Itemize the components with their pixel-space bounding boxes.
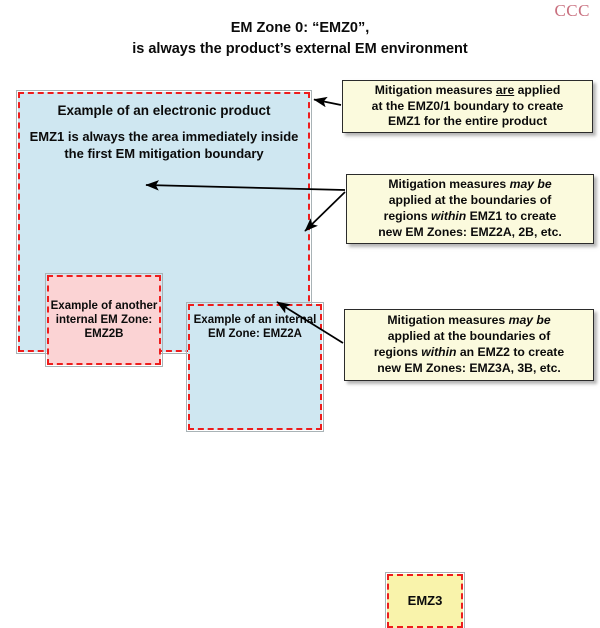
page-title: EM Zone 0: “EMZ0”, is always the product… [0, 18, 600, 60]
page-title-line-2: is always the product’s external EM envi… [0, 39, 600, 60]
callout-2-emphasis-within: within [431, 209, 466, 223]
arrow-to-emz2a-zone [305, 192, 345, 231]
zone-product-description: EMZ1 is always the area immediately insi… [22, 129, 306, 163]
zone-emz3: EMZ3 [387, 574, 463, 628]
zone-emz2a-label: Example of an internal EM Zone: EMZ2A [190, 313, 320, 341]
callout-2-line-1: Mitigation measures may be [352, 177, 588, 193]
page-title-line-1: EM Zone 0: “EMZ0”, [0, 18, 600, 39]
callout-2-line-1-part-a: Mitigation measures [388, 177, 509, 191]
callout-3-line-3-part-a: regions [374, 345, 421, 359]
callout-emz0-1-boundary: Mitigation measures are applied at the E… [342, 80, 593, 133]
zone-emz2a: Example of an internal EM Zone: EMZ2A EM… [188, 304, 322, 430]
zone-emz2a-line-3: Zone: EMZ2A [228, 328, 301, 340]
callout-3-emphasis-may-be: may be [509, 313, 551, 327]
callout-3-line-1-part-a: Mitigation measures [387, 313, 508, 327]
callout-emz2-regions: Mitigation measures may be applied at th… [344, 309, 594, 381]
zone-emz2b-line-1: Example of [51, 300, 112, 312]
callout-2-line-2: applied at the boundaries of [352, 193, 588, 209]
callout-3-line-3-part-b: an EMZ2 to create [456, 345, 564, 359]
arrow-to-product-zone [314, 100, 341, 106]
callout-3-emphasis-within: within [421, 345, 456, 359]
zone-product-emz1: Example of an electronic product EMZ1 is… [18, 92, 310, 352]
slide-canvas: CCC EM Zone 0: “EMZ0”, is always the pro… [0, 0, 600, 415]
zone-product-description-line-1: EMZ1 is always the area immediately [30, 129, 258, 144]
callout-2-line-3-part-a: regions [384, 209, 431, 223]
zone-emz2b-label: Example of another internal EM Zone: EMZ… [49, 299, 159, 341]
callout-1-line-1-part-b: applied [514, 83, 560, 97]
callout-1-line-2: at the EMZ0/1 boundary to create [348, 99, 587, 115]
callout-3-line-1: Mitigation measures may be [350, 313, 588, 329]
callout-1-line-1-part-a: Mitigation measures [375, 83, 496, 97]
callout-emz1-regions: Mitigation measures may be applied at th… [346, 174, 594, 244]
callout-2-line-3: regions within EMZ1 to create [352, 209, 588, 225]
zone-emz2b-line-3: internal EM [56, 314, 118, 326]
zone-emz2b: Example of another internal EM Zone: EMZ… [47, 275, 161, 365]
callout-3-line-3: regions within an EMZ2 to create [350, 345, 588, 361]
zone-product-header: Example of an electronic product [57, 102, 270, 120]
zone-emz3-label: EMZ3 [408, 593, 443, 609]
callout-1-line-1: Mitigation measures are applied [348, 83, 587, 99]
callout-3-line-2: applied at the boundaries of [350, 329, 588, 345]
callout-3-line-4: new EM Zones: EMZ3A, 3B, etc. [350, 361, 588, 377]
ccc-logo: CCC [554, 2, 590, 19]
callout-1-emphasis-are: are [496, 83, 514, 97]
callout-2-line-4: new EM Zones: EMZ2A, 2B, etc. [352, 225, 588, 241]
callout-2-emphasis-may-be: may be [510, 177, 552, 191]
callout-2-line-3-part-b: EMZ1 to create [466, 209, 556, 223]
zone-emz2b-line-2: another [115, 300, 157, 312]
callout-1-line-3: EMZ1 for the entire product [348, 114, 587, 130]
zone-emz2a-line-1: Example of an [194, 314, 272, 326]
